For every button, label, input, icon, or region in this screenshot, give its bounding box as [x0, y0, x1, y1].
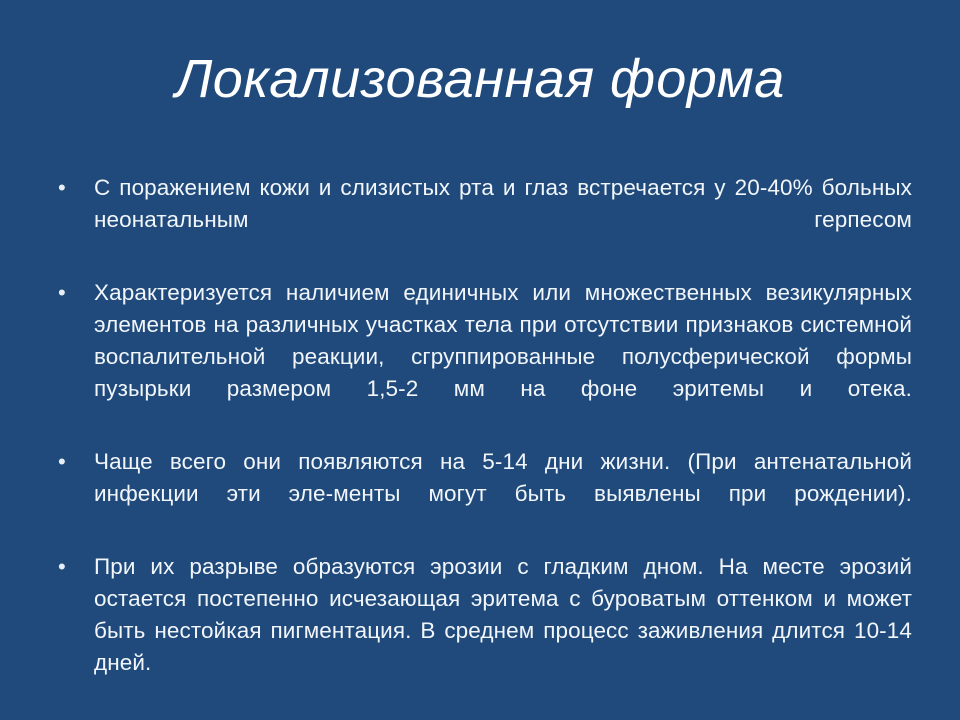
bullet-item-4: • При их разрыве образуются эрозии с гла… — [52, 551, 912, 711]
bullet-item-2: • Характеризуется наличием единичных или… — [52, 277, 912, 437]
bullet-point-icon: • — [52, 277, 94, 309]
slide-body-content: • С поражением кожи и слизистых рта и гл… — [52, 172, 912, 711]
bullet-point-icon: • — [52, 446, 94, 478]
bullet-text-2: Характеризуется наличием единичных или м… — [94, 277, 912, 437]
bullet-item-1: • С поражением кожи и слизистых рта и гл… — [52, 172, 912, 268]
presentation-slide: Локализованная форма • С поражением кожи… — [0, 0, 960, 720]
bullet-item-3: • Чаще всего они появляются на 5-14 дни … — [52, 446, 912, 542]
bullet-text-4: При их разрыве образуются эрозии с гладк… — [94, 551, 912, 711]
bullet-point-icon: • — [52, 551, 94, 583]
bullet-text-1: С поражением кожи и слизистых рта и глаз… — [94, 172, 912, 268]
slide-title: Локализованная форма — [60, 48, 900, 110]
bullet-point-icon: • — [52, 172, 94, 204]
bullet-text-3: Чаще всего они появляются на 5-14 дни жи… — [94, 446, 912, 542]
